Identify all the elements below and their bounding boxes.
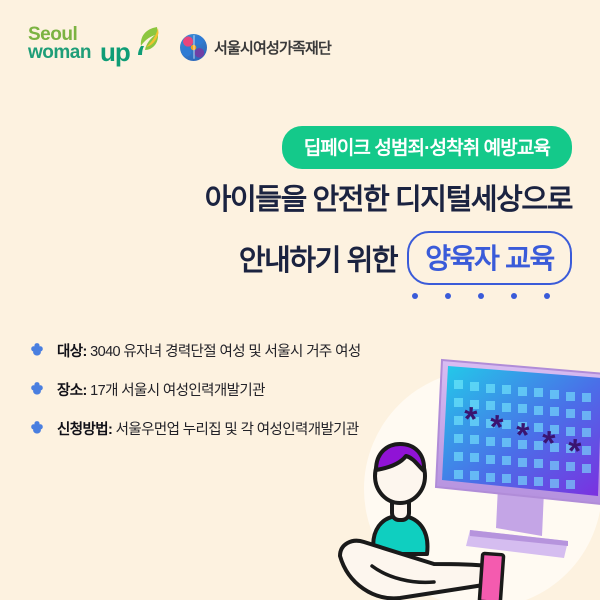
clover-plus-icon: [28, 342, 46, 360]
decorative-dot: [445, 293, 451, 299]
info-text-location: 장소: 17개 서울시 여성인력개발기관: [57, 379, 265, 400]
decorative-dot: [412, 293, 418, 299]
decorative-dot: [478, 293, 484, 299]
headline-line-2: 안내하기 위한 양육자 교육: [42, 231, 572, 285]
headline-highlight-box: 양육자 교육: [407, 231, 572, 285]
decorative-dot: [544, 293, 550, 299]
decorative-dot: [511, 293, 517, 299]
course-topic-badge: 딥페이크 성범죄·성착취 예방교육: [282, 126, 572, 169]
hand-holding-person-with-monitor-illustration: * * * * *: [330, 358, 600, 600]
decorative-dot-row: [42, 293, 572, 299]
logo-bar: Seoul woman up 서울시여성가족재단: [26, 24, 331, 70]
logo-line-up: up: [100, 39, 130, 65]
poster-canvas: Seoul woman up 서울시여성가족재단 딥페이크 성범죄·성착취 예방…: [0, 0, 600, 600]
info-value-apply-method: 서울우먼업 누리집 및 각 여성인력개발기관: [112, 422, 358, 438]
info-label-location: 장소:: [57, 383, 87, 399]
headline-line-2-plain: 안내하기 위한: [239, 237, 397, 279]
headline-line-1: 아이들을 안전한 디지털세상으로: [42, 185, 572, 217]
info-value-location: 17개 서울시 여성인력개발기관: [87, 383, 265, 399]
foundation-name-label: 서울시여성가족재단: [214, 37, 331, 58]
headline-block: 딥페이크 성범죄·성착취 예방교육 아이들을 안전한 디지털세상으로 안내하기 …: [42, 126, 572, 299]
info-text-target: 대상: 3040 유자녀 경력단절 여성 및 서울시 거주 여성: [57, 340, 361, 361]
info-label-apply-method: 신청방법:: [57, 422, 112, 438]
leaf-icon: [134, 26, 160, 56]
info-text-apply-method: 신청방법: 서울우먼업 누리집 및 각 여성인력개발기관: [57, 418, 359, 439]
globe-icon: [180, 34, 207, 61]
seoul-woman-up-logo: Seoul woman up: [26, 24, 158, 70]
pink-cuff-shape: [479, 553, 503, 600]
clover-plus-icon: [28, 420, 46, 438]
seoul-foundation-logo: 서울시여성가족재단: [180, 34, 331, 61]
info-label-target: 대상:: [57, 344, 87, 360]
illustration-group: * * * * *: [330, 358, 600, 600]
badge-row: 딥페이크 성범죄·성착취 예방교육: [42, 126, 572, 169]
logo-line-woman: woman: [28, 43, 91, 62]
person-figure: [373, 444, 427, 554]
info-value-target: 3040 유자녀 경력단절 여성 및 서울시 거주 여성: [87, 344, 361, 360]
clover-plus-icon: [28, 381, 46, 399]
